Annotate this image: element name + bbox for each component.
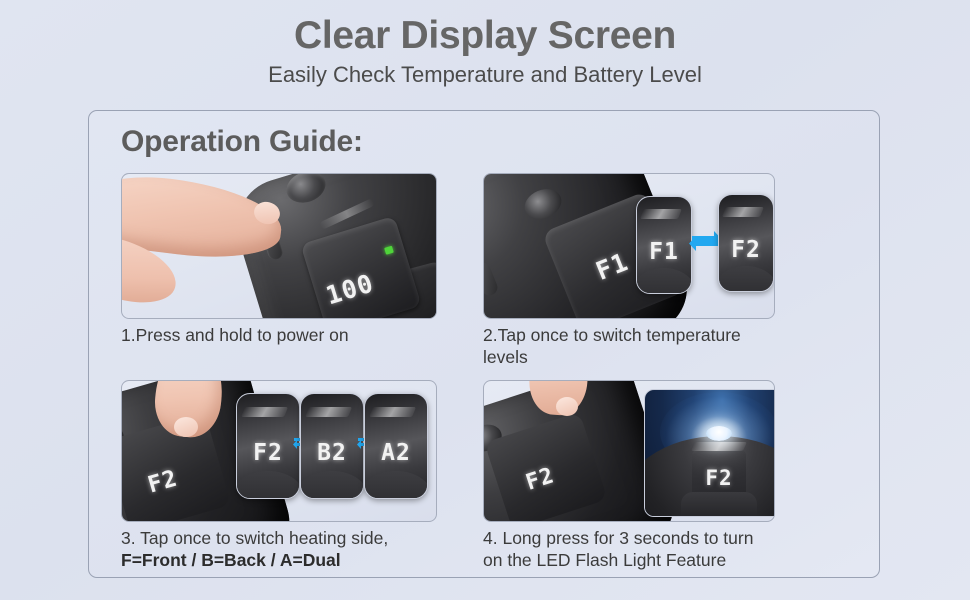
led-flash-callout: F2 (644, 389, 775, 517)
device-curve (364, 471, 428, 499)
step-3-caption-legend: F=Front / B=Back / A=Dual (121, 550, 437, 572)
screen-glare (369, 407, 417, 417)
screen-glare (691, 442, 747, 451)
device-curve (718, 266, 774, 292)
step-1-photo: 100 (121, 173, 437, 319)
screen-glare (722, 207, 764, 217)
step-4: F2 F2 4. Long press for 3 seconds to (483, 380, 775, 571)
swap-arrows-icon (688, 228, 722, 254)
step-3-photo: F2 F2 (121, 380, 437, 522)
page-subtitle: Easily Check Temperature and Battery Lev… (0, 62, 970, 88)
screen-glare (241, 407, 289, 417)
operation-guide-card: Operation Guide: 100 (88, 110, 880, 578)
device-curve (300, 471, 364, 499)
step-3: F2 F2 (121, 380, 437, 571)
page-title: Clear Display Screen (0, 14, 970, 58)
header: Clear Display Screen Easily Check Temper… (0, 14, 970, 88)
step-1-caption: 1.Press and hold to power on (121, 325, 437, 347)
screen-glare (640, 209, 682, 219)
device-curve (236, 471, 300, 499)
battery-indicator-icon (384, 246, 394, 255)
step-3-caption: 3. Tap once to switch heating side, (121, 528, 437, 550)
callout-readout: B2 (301, 440, 363, 466)
step-4-photo: F2 F2 (483, 380, 775, 522)
operation-guide-heading: Operation Guide: (121, 125, 363, 159)
device-foot (681, 492, 757, 517)
step-4-caption: 4. Long press for 3 seconds to turn on t… (483, 528, 775, 571)
callout-readout: A2 (365, 440, 427, 466)
callout-readout: F1 (637, 239, 691, 265)
callout-display-front: F2 (236, 393, 300, 499)
device-curve (636, 268, 692, 294)
callout-display-f1: F1 (636, 196, 692, 294)
page-background: Clear Display Screen Easily Check Temper… (0, 0, 970, 600)
callout-display-back: B2 (300, 393, 364, 499)
display-readout: 100 (323, 268, 378, 310)
callout-readout: F2 (719, 237, 773, 263)
callout-display-dual: A2 (364, 393, 428, 499)
screen-glare (305, 407, 353, 417)
callout-display-f2: F2 (718, 194, 774, 292)
led-display-readout: F2 (697, 466, 741, 490)
step-2-photo: F1 F1 F2 (483, 173, 775, 319)
steps-grid: 100 1.Press and hold to power on F1 (121, 173, 849, 572)
callout-readout: F2 (237, 440, 299, 466)
step-1: 100 1.Press and hold to power on (121, 173, 437, 368)
step-2-caption: 2.Tap once to switch temperature levels (483, 325, 775, 368)
step-2: F1 F1 F2 (483, 173, 775, 368)
